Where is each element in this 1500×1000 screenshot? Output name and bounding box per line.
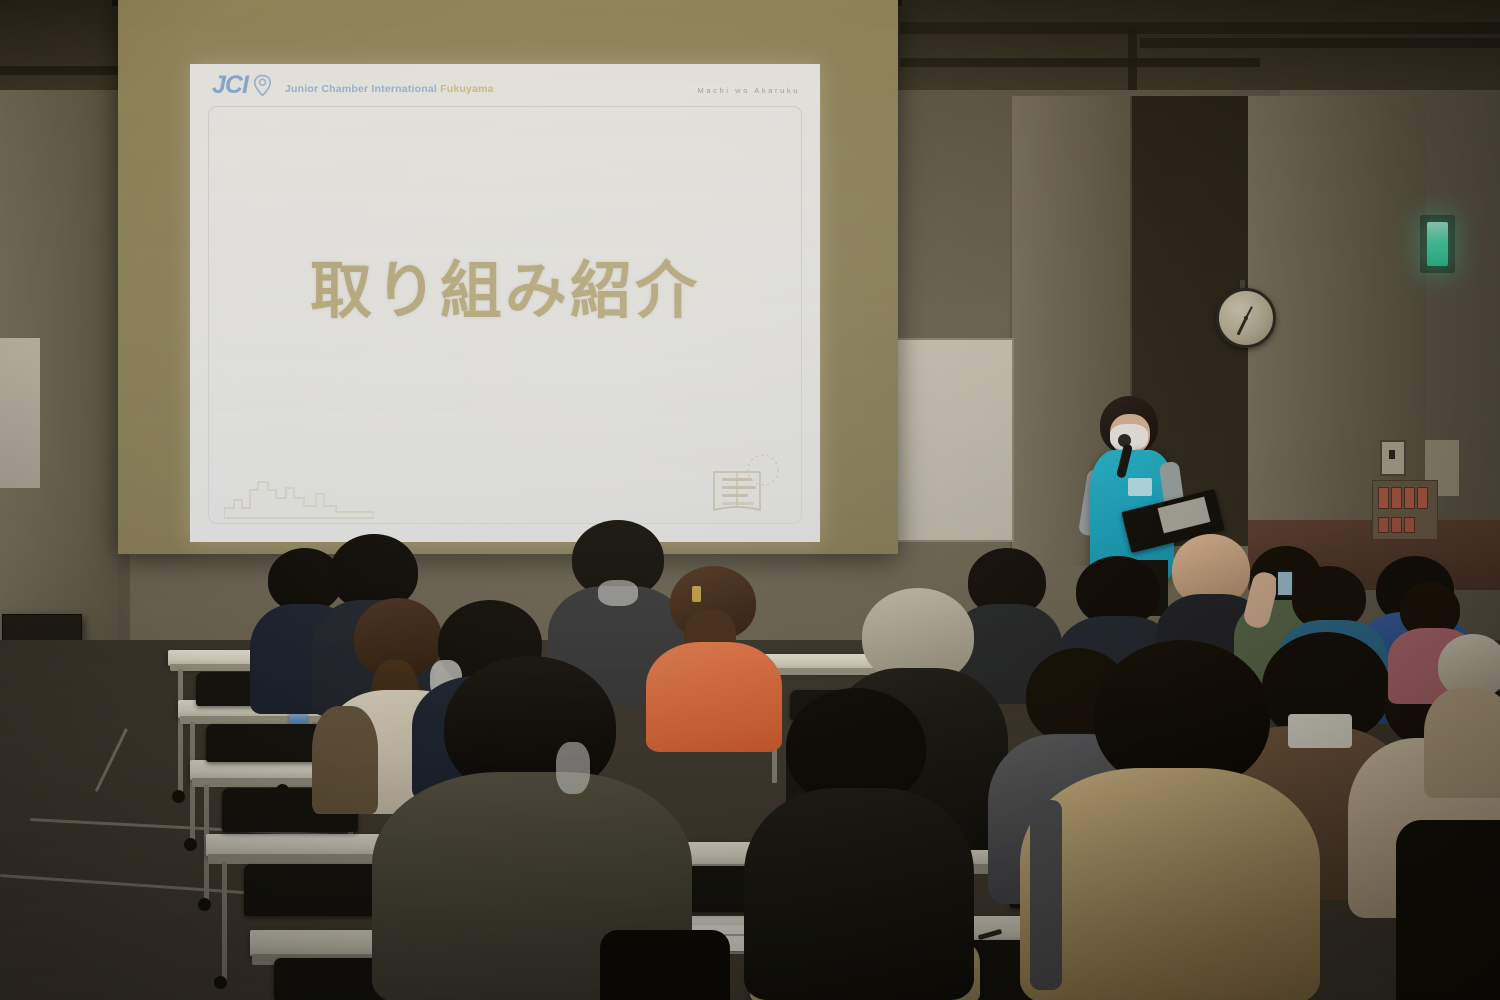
lecture-hall-scene: JCI Junior Chamber International Fukuyam… bbox=[0, 0, 1500, 1000]
jci-wordmark: JCI bbox=[212, 73, 248, 98]
desk-row1-right-edge bbox=[762, 668, 884, 675]
slide-header: JCI Junior Chamber International Fukuyam… bbox=[190, 64, 820, 110]
desk-caster-5 bbox=[214, 976, 227, 989]
open-book-stamp-icon bbox=[708, 452, 786, 522]
analog-wall-clock-icon bbox=[1216, 288, 1276, 348]
vest-sleeve bbox=[1030, 800, 1062, 990]
projection-screen: JCI Junior Chamber International Fukuyam… bbox=[118, 0, 898, 554]
body bbox=[646, 642, 782, 752]
desk-caster-2 bbox=[184, 838, 197, 851]
shirt-collar bbox=[1288, 714, 1352, 748]
whiteboard-left bbox=[0, 338, 40, 488]
jci-subtitle-city: Fukuyama bbox=[440, 83, 494, 95]
presenter-shirt-logo bbox=[1128, 478, 1152, 496]
face-mask bbox=[598, 580, 638, 606]
body bbox=[600, 930, 730, 1000]
desk-caster-3 bbox=[198, 898, 211, 911]
whiteboard-front bbox=[880, 338, 1014, 542]
city-skyline-outline-icon bbox=[224, 464, 374, 520]
slide-title: 取り組み紹介 bbox=[190, 240, 820, 330]
body bbox=[1020, 768, 1320, 1000]
ceiling-beam-2 bbox=[900, 58, 1260, 67]
projected-slide: JCI Junior Chamber International Fukuyam… bbox=[190, 64, 820, 542]
emergency-exit-sign-icon bbox=[1427, 222, 1448, 266]
body bbox=[744, 788, 974, 1000]
badge-text-lines bbox=[722, 478, 762, 510]
desk-caster-1 bbox=[172, 790, 185, 803]
jci-subtitle-main: Junior Chamber International bbox=[285, 83, 437, 95]
body-coat bbox=[312, 706, 378, 814]
ceiling-beam-3 bbox=[1140, 38, 1500, 48]
ceiling-beam-1 bbox=[900, 22, 1500, 34]
desk-leg-a1 bbox=[178, 669, 183, 797]
jci-logo: JCI bbox=[212, 73, 272, 98]
face-mask bbox=[556, 742, 590, 794]
desk-leg-e1 bbox=[222, 862, 227, 982]
chair-row2-a bbox=[206, 724, 324, 762]
hair-clip bbox=[692, 586, 701, 602]
location-pin-shield-icon bbox=[253, 74, 272, 97]
switchgear-block bbox=[1372, 480, 1438, 540]
jci-subtitle: Junior Chamber International Fukuyama bbox=[285, 83, 494, 95]
wall-switch-panel-icon bbox=[1380, 440, 1406, 476]
body bbox=[1396, 820, 1500, 1000]
body bbox=[1424, 688, 1500, 798]
smartphone bbox=[1276, 570, 1294, 597]
slide-tagline: Machi wo Akaruku bbox=[698, 86, 800, 95]
